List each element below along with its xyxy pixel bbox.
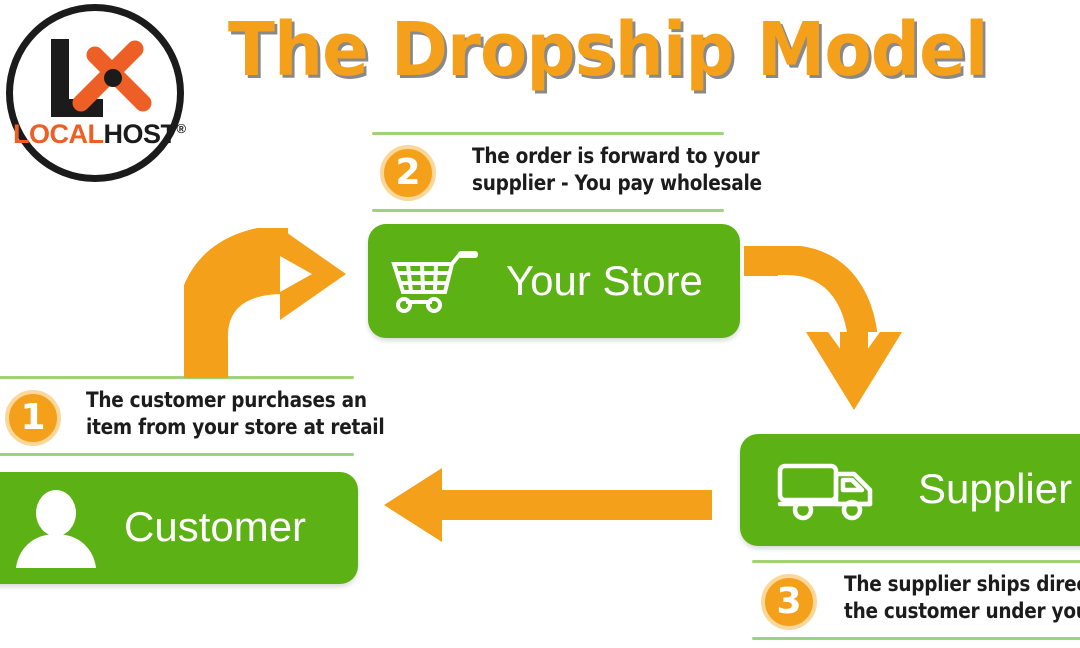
step-2-caption: 2 The order is forward to your supplier …	[372, 132, 724, 212]
arrow-customer-to-store	[184, 228, 354, 378]
page-title: The Dropship Model	[228, 8, 833, 92]
step-1-badge: 1	[5, 390, 61, 446]
localhost-logo: LOCALHOST®	[6, 4, 184, 182]
logo-wordmark: LOCALHOST®	[13, 119, 177, 150]
logo-word-host: HOST	[103, 119, 176, 149]
step-3-badge: 3	[761, 574, 817, 630]
registered-trademark-icon: ®	[177, 121, 186, 136]
step-1-text-line-1: The customer purchases an	[86, 387, 384, 414]
step-3-rule-top	[752, 560, 1080, 563]
step-2-text-line-2: supplier - You pay wholesale	[472, 170, 762, 197]
step-1-text: The customer purchases an item from your…	[86, 387, 384, 441]
step-2-text-line-1: The order is forward to your	[472, 143, 762, 170]
dropship-model-infographic: LOCALHOST® The Dropship Model 2 The orde…	[0, 0, 1080, 648]
step-2-text: The order is forward to your supplier - …	[472, 143, 762, 197]
arrow-supplier-to-customer	[382, 466, 712, 544]
node-your-store-label: Your Store	[506, 252, 703, 310]
step-3-text: The supplier ships directly to the custo…	[844, 571, 1080, 625]
node-supplier-label: Supplier	[918, 460, 1072, 518]
step-2-rule-bottom	[372, 209, 724, 212]
step-1-text-line-2: item from your store at retail	[86, 414, 384, 441]
shopping-cart-icon	[390, 250, 486, 316]
step-2-rule-top	[372, 132, 724, 135]
arrow-store-to-supplier	[744, 246, 910, 414]
person-silhouette-icon	[16, 490, 96, 568]
step-1-rule-bottom	[0, 453, 354, 456]
step-1-caption: 1 The customer purchases an item from yo…	[0, 376, 354, 456]
step-3-text-line-2: the customer under your name	[844, 598, 1080, 625]
logo-word-local: LOCAL	[13, 119, 103, 149]
node-customer: Customer	[0, 472, 358, 584]
node-your-store: Your Store	[368, 224, 740, 338]
localhost-ly-monogram-icon	[39, 33, 165, 125]
step-3-rule-bottom	[752, 637, 1080, 640]
step-3-caption: 3 The supplier ships directly to the cus…	[752, 560, 1080, 640]
step-2-badge: 2	[380, 145, 436, 201]
node-supplier: Supplier	[740, 434, 1080, 546]
node-customer-label: Customer	[124, 498, 306, 556]
delivery-truck-icon	[776, 458, 886, 524]
step-3-text-line-1: The supplier ships directly to	[844, 571, 1080, 598]
